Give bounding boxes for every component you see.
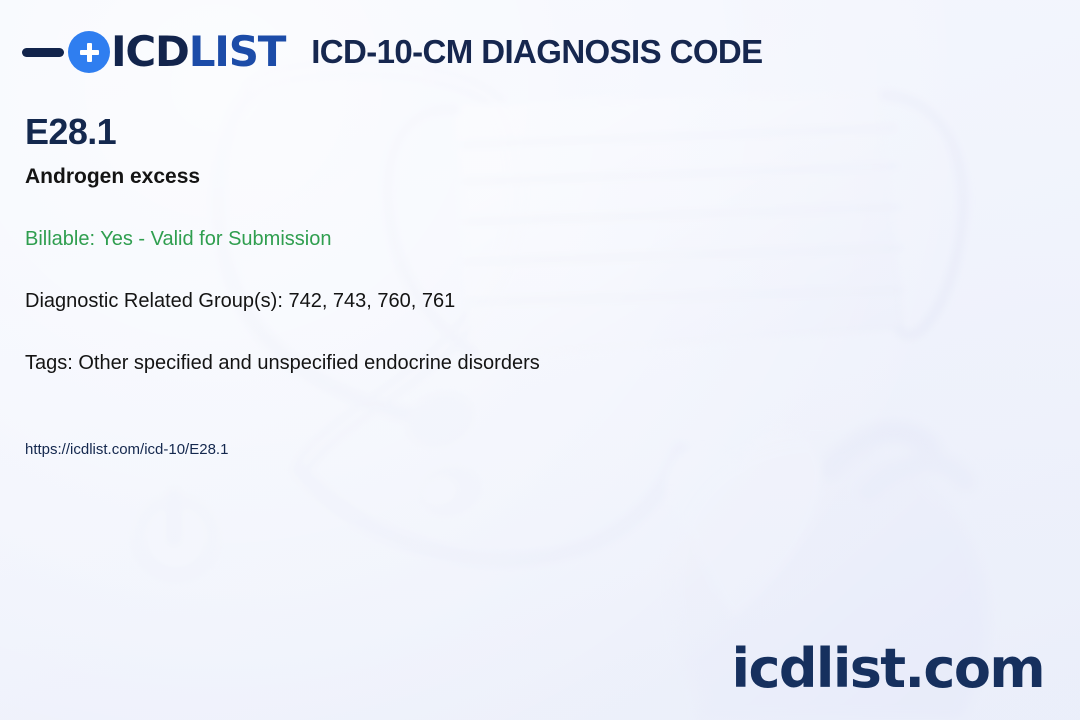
page-title: ICD-10-CM DIAGNOSIS CODE bbox=[311, 33, 762, 71]
source-url[interactable]: https://icdlist.com/icd-10/E28.1 bbox=[25, 441, 985, 459]
icd-code-card: ICD LIST ICD-10-CM DIAGNOSIS CODE E28.1 … bbox=[0, 0, 1080, 720]
page-header: ICD LIST ICD-10-CM DIAGNOSIS CODE bbox=[22, 26, 763, 78]
tags-line: Tags: Other specified and unspecified en… bbox=[25, 351, 985, 375]
diagnosis-description: Androgen excess bbox=[25, 164, 985, 189]
code-details: E28.1 Androgen excess Billable: Yes - Va… bbox=[25, 112, 985, 459]
dash-icon bbox=[22, 48, 64, 57]
logo-word-icd: ICD bbox=[111, 31, 189, 73]
site-watermark: icdlist.com bbox=[732, 642, 1044, 696]
billable-status: Billable: Yes - Valid for Submission bbox=[25, 227, 985, 251]
logo-word-list: LIST bbox=[189, 31, 286, 73]
stethoscope-chestpiece-icon bbox=[132, 488, 220, 582]
diagnosis-code: E28.1 bbox=[25, 112, 985, 152]
diagnostic-related-groups: Diagnostic Related Group(s): 742, 743, 7… bbox=[25, 289, 985, 313]
icdlist-logo[interactable]: ICD LIST bbox=[22, 29, 285, 75]
plus-icon bbox=[68, 31, 110, 73]
